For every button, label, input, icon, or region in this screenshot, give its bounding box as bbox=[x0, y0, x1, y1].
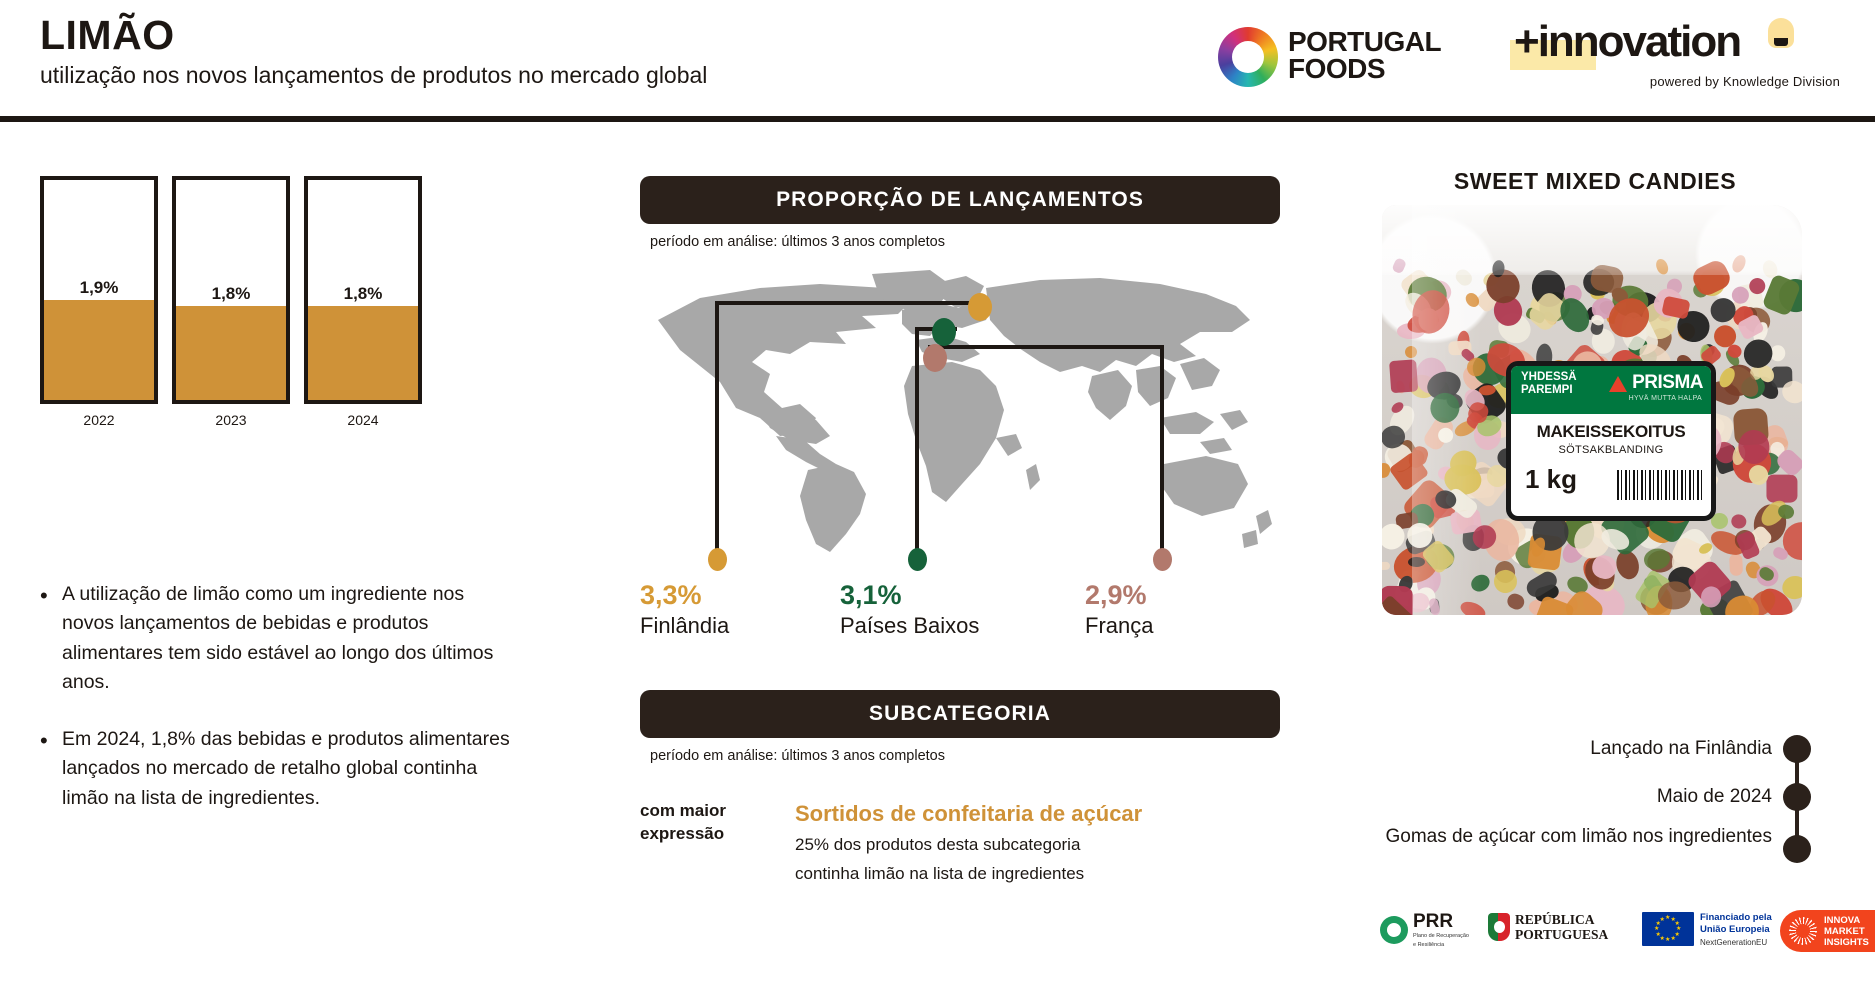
infographic-page: LIMÃO utilização nos novos lançamentos d… bbox=[0, 0, 1875, 985]
package-label: YHDESSÄ PAREMPI PRISMA HYVÄ MUTTA HALPA … bbox=[1506, 361, 1716, 521]
world-map bbox=[640, 258, 1280, 558]
prisma-brand-sub: HYVÄ MUTTA HALPA bbox=[1629, 395, 1702, 402]
country-percentage: 2,9% bbox=[1085, 580, 1153, 611]
candy-piece bbox=[1729, 554, 1743, 577]
timeline-item-ingredients: Gomas de açúcar com limão nos ingredient… bbox=[1372, 825, 1772, 849]
connector-finland-vertical bbox=[715, 301, 719, 555]
bar-fill bbox=[308, 306, 418, 400]
innovation-wordmark: +innovation bbox=[1514, 20, 1740, 64]
note-text: A utilização de limão como um ingredient… bbox=[62, 580, 510, 697]
eu-line1: Financiado pela bbox=[1700, 912, 1772, 924]
country-stat-netherlands: 3,1% Países Baixos bbox=[840, 580, 979, 639]
connector-finland-horizontal bbox=[715, 301, 980, 305]
portugal-foods-logo: PORTUGAL FOODS bbox=[1218, 22, 1468, 92]
country-name: França bbox=[1085, 613, 1153, 639]
subcategory-banner: SUBCATEGORIA bbox=[640, 690, 1280, 738]
package-slogan-line1: YHDESSÄ bbox=[1521, 371, 1577, 384]
bar-value-label: 1,8% bbox=[304, 284, 422, 304]
portugal-shield-icon bbox=[1488, 913, 1510, 941]
bullet-icon: • bbox=[40, 580, 62, 697]
timeline-dot bbox=[1783, 735, 1811, 763]
eu-star-icon: ★ bbox=[1665, 936, 1670, 943]
list-item: • Em 2024, 1,8% das bebidas e produtos a… bbox=[40, 725, 510, 813]
usage-bar-chart: 1,9% 2022 1,8% 2023 1,8% 2024 bbox=[40, 176, 480, 426]
eu-star-icon: ★ bbox=[1671, 935, 1676, 942]
page-subtitle: utilização nos novos lançamentos de prod… bbox=[40, 63, 707, 88]
innova-line3: INSIGHTS bbox=[1824, 938, 1869, 949]
prr-line2: e Resiliência bbox=[1413, 942, 1469, 949]
subcategory-detail-line1: 25% dos produtos desta subcategoria bbox=[795, 832, 1280, 858]
bar-year-label: 2022 bbox=[40, 412, 158, 428]
bar-group-2024: 1,8% 2024 bbox=[304, 176, 422, 404]
package-product-name: MAKEISSEKOITUS bbox=[1511, 422, 1711, 442]
innova-ring-icon bbox=[1789, 917, 1817, 945]
eu-stars: ★★★★★★★★★★★★ bbox=[1642, 912, 1694, 946]
product-image: YHDESSÄ PAREMPI PRISMA HYVÄ MUTTA HALPA … bbox=[1382, 205, 1802, 615]
timeline-dot bbox=[1783, 835, 1811, 863]
connector-france-horizontal bbox=[928, 345, 1164, 349]
country-stats: 3,3% Finlândia 3,1% Países Baixos 2,9% F… bbox=[640, 580, 1280, 650]
page-header: LIMÃO utilização nos novos lançamentos d… bbox=[0, 0, 1875, 122]
candy-piece bbox=[1730, 513, 1747, 530]
footer-logos: PRR Plano de Recuperação e Resiliência R… bbox=[1380, 912, 1860, 972]
connector-france-vertical bbox=[1160, 345, 1164, 555]
lightbulb-icon bbox=[1768, 18, 1794, 48]
portugal-foods-wordmark: PORTUGAL FOODS bbox=[1288, 28, 1441, 83]
page-title: LIMÃO bbox=[40, 14, 707, 57]
package-slogan: YHDESSÄ PAREMPI bbox=[1521, 371, 1577, 397]
bar-fill bbox=[44, 300, 154, 400]
prisma-triangle-icon bbox=[1609, 376, 1627, 392]
candy-piece bbox=[1505, 591, 1527, 612]
portugal-foods-ring-icon bbox=[1218, 27, 1278, 87]
republica-line1: REPÚBLICA bbox=[1515, 912, 1608, 927]
bar-group-2022: 1,9% 2022 bbox=[40, 176, 158, 404]
subcategory-body: Sortidos de confeitaria de açúcar 25% do… bbox=[795, 800, 1280, 887]
prr-logo: PRR Plano de Recuperação e Resiliência bbox=[1380, 912, 1469, 949]
bar-group-2023: 1,8% 2023 bbox=[172, 176, 290, 404]
bar-year-label: 2023 bbox=[172, 412, 290, 428]
left-notes-list: • A utilização de limão como um ingredie… bbox=[40, 580, 510, 841]
prr-circle-icon bbox=[1380, 916, 1408, 944]
map-pin-netherlands bbox=[932, 318, 956, 346]
bar-value-label: 1,9% bbox=[40, 278, 158, 298]
innovation-tagline: powered by Knowledge Division bbox=[1650, 74, 1840, 89]
subcategory-section: SUBCATEGORIA período em análise: últimos… bbox=[640, 690, 1280, 764]
prr-abbr: PRR bbox=[1413, 912, 1469, 931]
bar-year-label: 2024 bbox=[304, 412, 422, 428]
barcode-icon bbox=[1617, 470, 1703, 500]
list-item: • A utilização de limão como um ingredie… bbox=[40, 580, 510, 697]
proportion-banner-label: PROPORÇÃO DE LANÇAMENTOS bbox=[776, 188, 1144, 212]
connector-netherlands-vertical bbox=[915, 327, 919, 555]
country-percentage: 3,3% bbox=[640, 580, 729, 611]
portugal-foods-line1: PORTUGAL bbox=[1288, 28, 1441, 55]
candy-piece bbox=[1766, 475, 1797, 503]
bar-value-label: 1,8% bbox=[172, 284, 290, 304]
eu-funding-logo: ★★★★★★★★★★★★ Financiado pela União Europ… bbox=[1642, 912, 1772, 947]
country-name: Países Baixos bbox=[840, 613, 979, 639]
bullet-icon: • bbox=[40, 725, 62, 813]
innovation-logo: +innovation powered by Knowledge Divisio… bbox=[1510, 18, 1840, 98]
subcategory-detail-line2: continha limão na lista de ingredientes bbox=[795, 861, 1280, 887]
bag-gloss-side bbox=[1412, 205, 1482, 615]
product-title: SWEET MIXED CANDIES bbox=[1380, 168, 1810, 195]
lead-dot-finland bbox=[708, 548, 727, 571]
subcategory-headline: Sortidos de confeitaria de açúcar bbox=[795, 800, 1280, 828]
eu-flag-icon: ★★★★★★★★★★★★ bbox=[1642, 912, 1694, 946]
note-text: Em 2024, 1,8% das bebidas e produtos ali… bbox=[62, 725, 510, 813]
timeline-item-date: Maio de 2024 bbox=[1372, 785, 1772, 809]
prisma-brand: PRISMA bbox=[1632, 372, 1703, 394]
package-slogan-line2: PAREMPI bbox=[1521, 384, 1577, 397]
map-pin-finland bbox=[968, 293, 992, 321]
product-timeline: Lançado na Finlândia Maio de 2024 Gomas … bbox=[1340, 735, 1820, 865]
map-pin-france bbox=[923, 344, 947, 372]
package-weight: 1 kg bbox=[1525, 464, 1577, 495]
header-divider bbox=[0, 116, 1875, 122]
subcategory-label: com maior expressão bbox=[640, 800, 795, 887]
proportion-period-note: período em análise: últimos 3 anos compl… bbox=[650, 234, 1280, 250]
subcategory-detail: com maior expressão Sortidos de confeita… bbox=[640, 800, 1280, 887]
proportion-banner: PROPORÇÃO DE LANÇAMENTOS bbox=[640, 176, 1280, 224]
republica-portuguesa-logo: REPÚBLICA PORTUGUESA bbox=[1488, 912, 1608, 942]
republica-line2: PORTUGUESA bbox=[1515, 927, 1608, 942]
country-name: Finlândia bbox=[640, 613, 729, 639]
lead-dot-france bbox=[1153, 548, 1172, 571]
subcategory-banner-label: SUBCATEGORIA bbox=[869, 702, 1051, 726]
portugal-foods-line2: FOODS bbox=[1288, 55, 1441, 82]
timeline-item-launch: Lançado na Finlândia bbox=[1372, 737, 1772, 761]
country-stat-finland: 3,3% Finlândia bbox=[640, 580, 729, 639]
timeline-dot bbox=[1783, 783, 1811, 811]
lead-dot-netherlands bbox=[908, 548, 927, 571]
country-stat-france: 2,9% França bbox=[1085, 580, 1153, 639]
subcategory-period-note: período em análise: últimos 3 anos compl… bbox=[650, 748, 1280, 764]
eu-line2: União Europeia bbox=[1700, 924, 1772, 936]
candy-bag: YHDESSÄ PAREMPI PRISMA HYVÄ MUTTA HALPA … bbox=[1382, 205, 1802, 615]
candy-piece bbox=[1382, 561, 1390, 569]
eu-line3: NextGenerationEU bbox=[1700, 938, 1772, 947]
title-block: LIMÃO utilização nos novos lançamentos d… bbox=[40, 14, 707, 88]
prr-line1: Plano de Recuperação bbox=[1413, 933, 1469, 940]
package-product-name-sv: SÖTSAKBLANDING bbox=[1511, 444, 1711, 456]
country-percentage: 3,1% bbox=[840, 580, 979, 611]
bar-fill bbox=[176, 306, 286, 400]
innova-market-insights-logo: INNOVA MARKET INSIGHTS bbox=[1780, 910, 1875, 952]
proportion-section: PROPORÇÃO DE LANÇAMENTOS período em anál… bbox=[640, 176, 1280, 250]
eu-star-icon: ★ bbox=[1660, 916, 1665, 923]
